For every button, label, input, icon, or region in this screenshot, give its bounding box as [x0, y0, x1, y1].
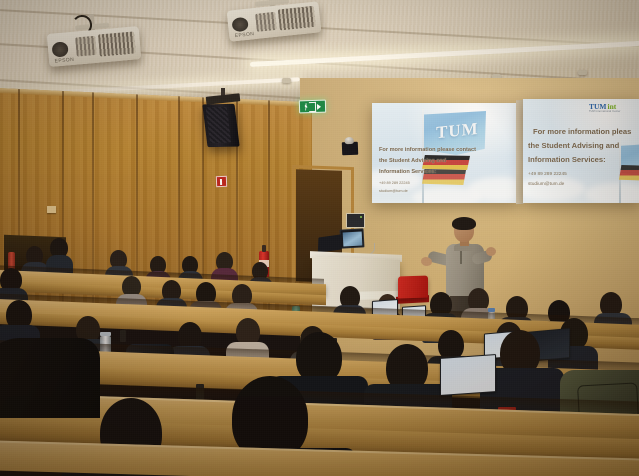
slide-line-1: For more information pleas [533, 127, 639, 137]
fire-extinguisher-sign-icon [216, 176, 227, 187]
running-person-icon [304, 103, 308, 111]
slide-line-3: Information Services: [528, 155, 639, 165]
projector-brand-label: EPSON [54, 57, 74, 65]
emergency-exit-sign-icon [299, 100, 326, 114]
slide-line-2: the Student Advising and [379, 158, 499, 166]
slide-line-2: the Student Advising and [528, 141, 639, 151]
slide-line-3: Information Services: [379, 169, 499, 177]
projector-vent [255, 11, 277, 31]
lecture-hall-photo: EPSON EPSON [0, 0, 639, 476]
slide-email: studium@tum.de [379, 189, 408, 195]
flagpole [422, 109, 424, 203]
projection-screen-right: TUM int TUM International Center For mor… [523, 99, 639, 203]
tum-int-logo: TUM int TUM International Center [589, 103, 616, 111]
projector-brand-label: EPSON [235, 31, 255, 39]
slide-phone: +49 89 289 22245 [528, 171, 567, 178]
german-flag [619, 165, 639, 181]
ceiling-sensor-icon [578, 70, 587, 75]
camera-dome-icon [345, 137, 354, 144]
projector-lens-icon [51, 41, 69, 58]
presenter-hair [452, 217, 476, 230]
foreground-shadow-mass [0, 338, 100, 418]
projector-vent [98, 31, 137, 57]
tum-logo-subtitle: TUM International Center [589, 111, 621, 113]
slide-email: studium@tum.de [528, 181, 564, 188]
cloud-shape [585, 183, 639, 203]
slide-line-1: For more information please contact [379, 147, 499, 155]
audience-laptop-foreground [440, 354, 496, 396]
presenter-right-hand [486, 247, 496, 256]
arrow-icon [317, 103, 321, 109]
bottle-cap [100, 332, 111, 336]
ceiling-speaker [202, 104, 239, 147]
av-control-panel[interactable] [346, 213, 365, 228]
wall-camera [342, 142, 358, 156]
projector-vent [277, 6, 316, 31]
bench-bracket [120, 330, 126, 342]
projector-vent [75, 36, 97, 57]
red-chair [398, 275, 428, 298]
bottle-cap [488, 308, 495, 312]
extinguisher-nozzle [262, 245, 266, 252]
door-icon [309, 101, 316, 111]
speaker-grille-icon [206, 107, 231, 143]
laptop-screen [441, 355, 495, 395]
projector-lens-icon [231, 17, 249, 33]
ceiling-sensor-icon [282, 78, 291, 83]
slide-phone: +49 89 289 22245 [379, 181, 410, 187]
status-led-icon [360, 216, 362, 218]
wall-outlet-plate [47, 206, 56, 213]
projection-screen-left: TUM For more information please contact … [372, 103, 518, 203]
